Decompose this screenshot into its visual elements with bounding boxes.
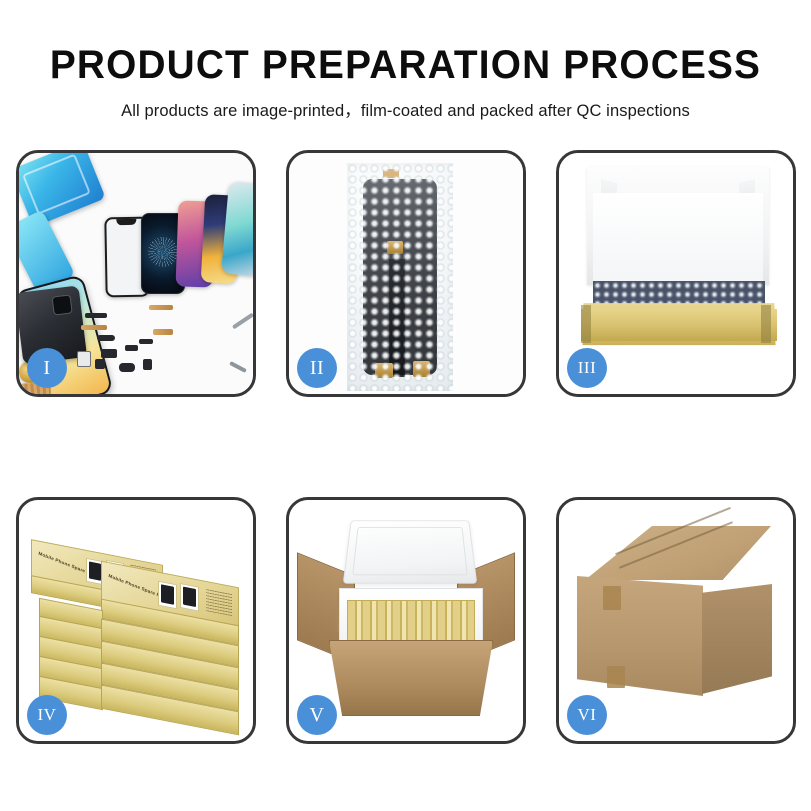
tweezers-icon <box>232 313 253 330</box>
component-chip <box>125 345 138 351</box>
bubble-wrap-bag <box>347 163 453 391</box>
component-chip <box>77 351 91 367</box>
box-spec-lines <box>206 588 232 616</box>
process-step-card-6[interactable]: VI <box>556 497 796 744</box>
box-screen-thumbnail <box>180 583 199 612</box>
component-chip <box>143 359 152 370</box>
carton-tape-patch <box>603 586 621 610</box>
component-chip <box>119 363 135 372</box>
page-title: PRODUCT PREPARATION PROCESS <box>12 44 799 86</box>
step-badge-3: III <box>567 348 607 388</box>
bubble-texture <box>347 163 453 391</box>
box-screen-thumbnail <box>158 581 177 610</box>
step-badge-5: V <box>297 695 337 735</box>
step-numeral: III <box>578 358 596 378</box>
tray-edge-left <box>581 305 591 343</box>
flex-cable-icon <box>81 325 107 330</box>
carton-top-face <box>585 526 771 580</box>
flex-cable-icon <box>153 329 173 335</box>
step-numeral: V <box>310 704 325 727</box>
cardboard-carton-front <box>329 640 493 716</box>
process-step-card-5[interactable]: V <box>286 497 526 744</box>
flex-cable-icon <box>149 305 173 310</box>
carton-front-face <box>577 576 703 696</box>
component-chip <box>95 359 105 369</box>
box-interior <box>593 193 763 287</box>
carton-tape-patch <box>607 666 625 688</box>
process-step-grid: I II <box>16 150 795 744</box>
step-numeral: VI <box>578 705 597 725</box>
foam-box-lid <box>343 520 478 583</box>
process-step-card-2[interactable]: II <box>286 150 526 397</box>
process-step-card-3[interactable]: III <box>556 150 796 397</box>
step-numeral: IV <box>38 705 57 725</box>
carton-side-face <box>702 584 772 694</box>
step-numeral: II <box>310 357 324 380</box>
process-step-card-1[interactable]: I <box>16 150 256 397</box>
step-numeral: I <box>43 357 50 380</box>
step-badge-2: II <box>297 348 337 388</box>
component-chip <box>101 349 117 358</box>
page-subtitle: All products are image-printed，film-coat… <box>0 97 811 121</box>
page-header: PRODUCT PREPARATION PROCESS All products… <box>0 0 811 121</box>
component-chip <box>85 313 107 318</box>
process-step-card-4[interactable]: Mobile Phone Spare Parts Mobile Phone Sp… <box>16 497 256 744</box>
step-badge-4: IV <box>27 695 67 735</box>
screwdriver-icon <box>229 361 247 373</box>
step-badge-1: I <box>27 348 67 388</box>
tray-edge-right <box>761 305 771 343</box>
component-chip <box>139 339 153 344</box>
component-chip <box>97 335 115 341</box>
step-badge-6: VI <box>567 695 607 735</box>
gold-tray-top <box>581 309 777 341</box>
